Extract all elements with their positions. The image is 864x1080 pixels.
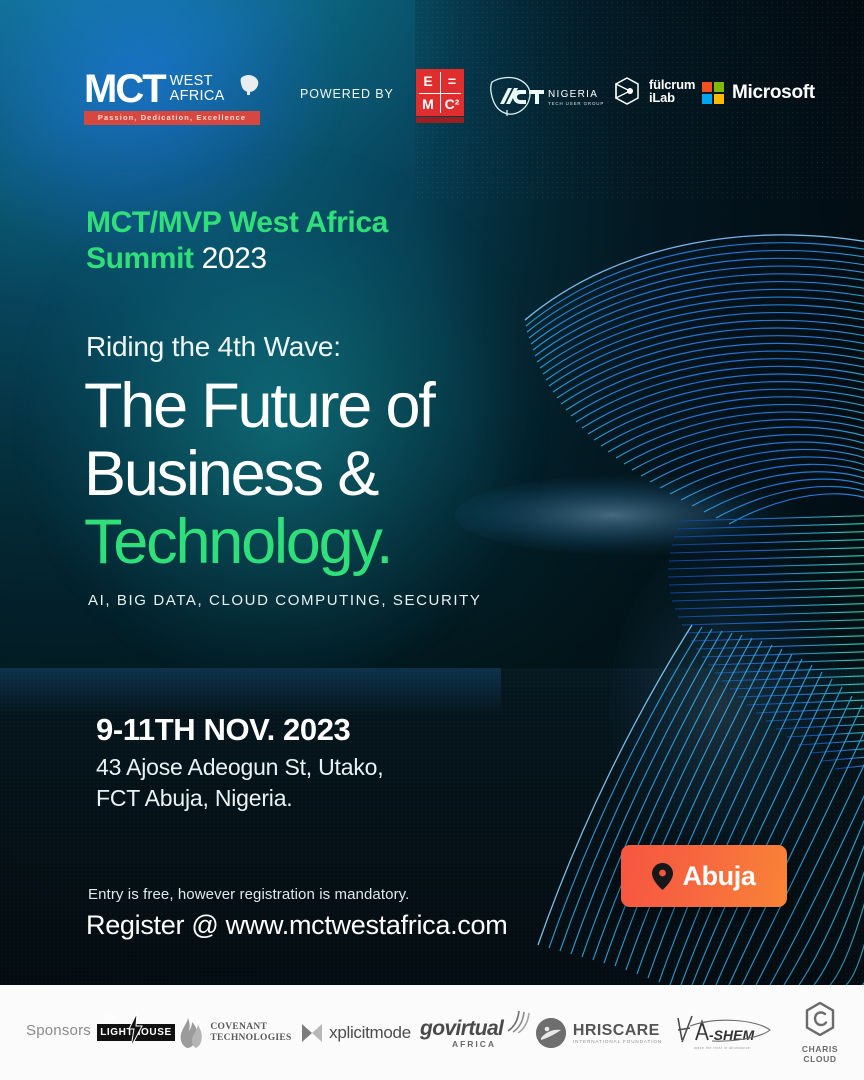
svg-text:NIGERIA: NIGERIA xyxy=(548,89,598,100)
sponsor-the-lighthouse[interactable]: The LIGHTHOUSE xyxy=(97,985,175,1080)
powered-by-label: POWERED BY xyxy=(300,87,394,101)
event-date: 9-11TH NOV. 2023 xyxy=(96,712,350,748)
headline: The Future of Business & Technology. xyxy=(84,372,604,576)
event-poster: MCT WEST AFRICA Passion, Dedication, Exc… xyxy=(0,0,864,1080)
emc2-cell-c2: C² xyxy=(440,93,464,117)
emc2-logo-footer xyxy=(416,117,464,123)
summit-title: MCT/MVP West Africa Summit 2023 xyxy=(86,205,556,277)
address-line2: FCT Abuja, Nigeria. xyxy=(96,785,292,811)
xplicitmode-wordmark: xplicitmode xyxy=(329,1023,411,1043)
charis-cloud-hex-icon xyxy=(805,1002,835,1036)
mct-region-line1: WEST xyxy=(170,74,225,89)
covenant-wordmark: COVENANT TECHNOLOGIES xyxy=(210,1022,291,1044)
address-line1: 43 Ajose Adeogun St, Utako, xyxy=(96,754,383,780)
register-url[interactable]: Register @ www.mctwestafrica.com xyxy=(86,910,507,941)
sponsor-covenant-technologies[interactable]: COVENANT TECHNOLOGIES xyxy=(175,985,295,1080)
emc2-cell-equals: = xyxy=(440,69,464,93)
sponsor-ha-shem[interactable]: -SHEM make the trust in abundance xyxy=(672,985,784,1080)
charis-cloud-wordmark: CHARIS CLOUD xyxy=(788,1044,852,1064)
sponsors-footer: Sponsors The LIGHTHOUSE COVENANT TECHNOL… xyxy=(0,985,864,1080)
xplicitmode-mark-icon xyxy=(300,1022,324,1044)
microsoft-logo: Microsoft xyxy=(702,82,815,104)
mct-west-africa-logo: MCT WEST AFRICA Passion, Dedication, Exc… xyxy=(84,70,260,125)
fulcrum-ilab-logo: fülcrum iLab xyxy=(612,76,695,106)
summit-title-line1: MCT/MVP West Africa xyxy=(86,206,388,239)
entry-note: Entry is free, however registration is m… xyxy=(88,886,409,903)
microsoft-squares-icon xyxy=(702,82,724,104)
microsoft-wordmark: Microsoft xyxy=(732,82,815,104)
topics-list: AI, BIG DATA, CLOUD COMPUTING, SECURITY xyxy=(88,592,482,609)
nigeria-map-icon xyxy=(238,72,262,96)
mct-wordmark: MCT xyxy=(84,70,167,108)
event-address: 43 Ajose Adeogun St, Utako, FCT Abuja, N… xyxy=(96,752,496,814)
location-pin-icon xyxy=(652,863,673,890)
summit-year: 2023 xyxy=(202,242,267,275)
emc2-cell-e: E xyxy=(416,69,440,93)
covenant-line1: COVENANT xyxy=(210,1022,291,1033)
act-nigeria-logo: NIGERIA TECH USER GROUP xyxy=(486,74,604,118)
headline-line2: Business & xyxy=(84,439,377,509)
mct-region-label: WEST AFRICA xyxy=(170,74,225,104)
sponsor-hriscare[interactable]: HRISCARE INTERNATIONAL FOUNDATION xyxy=(534,985,664,1080)
hriscare-wordmark: HRISCARE xyxy=(573,1022,662,1039)
lightning-bolt-icon xyxy=(127,1013,144,1047)
hriscare-subtitle: INTERNATIONAL FOUNDATION xyxy=(573,1039,662,1044)
lighthouse-the-label: The xyxy=(105,1015,115,1021)
sponsor-xplicitmode[interactable]: xplicitmode xyxy=(298,985,413,1080)
mct-region-line2: AFRICA xyxy=(170,89,225,104)
headline-line1: The Future of xyxy=(84,371,434,441)
summit-title-line2: Summit xyxy=(86,242,194,275)
covenant-line2: TECHNOLOGIES xyxy=(210,1033,291,1044)
sponsors-label: Sponsors xyxy=(26,1022,91,1039)
hriscare-emblem-icon xyxy=(536,1018,566,1048)
ha-shem-logo-mark: -SHEM make the trust in abundance xyxy=(672,1014,784,1052)
flame-icon xyxy=(178,1018,204,1048)
city-badge-label: Abuja xyxy=(682,861,755,892)
signal-waves-icon xyxy=(504,1009,530,1033)
header-logo-bar: MCT WEST AFRICA Passion, Dedication, Exc… xyxy=(0,62,864,134)
fulcrum-ilab-name: iLab xyxy=(649,91,695,104)
svg-text:make the trust in abundance: make the trust in abundance xyxy=(694,1046,750,1050)
emc2-logo: E = M C² xyxy=(416,69,464,124)
mct-tagline: Passion, Dedication, Excellence xyxy=(84,111,260,125)
emc2-cell-m: M xyxy=(416,93,440,117)
city-badge[interactable]: Abuja xyxy=(621,845,787,907)
fulcrum-mark-icon xyxy=(612,76,642,106)
svg-text:TECH USER GROUP: TECH USER GROUP xyxy=(548,101,604,106)
headline-kicker: Riding the 4th Wave: xyxy=(86,330,341,364)
sponsor-charis-cloud[interactable]: CHARIS CLOUD xyxy=(788,985,852,1080)
sponsor-govirtual-africa[interactable]: govirtual AFRICA xyxy=(420,985,528,1080)
headline-line3: Technology. xyxy=(84,508,604,576)
